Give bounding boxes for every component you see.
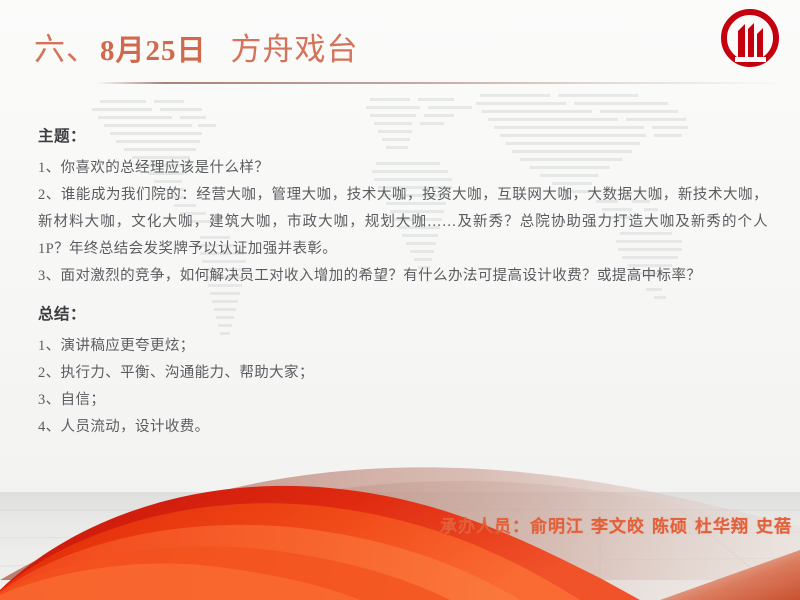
- topic-item-1: 1、你喜欢的总经理应该是什么样？: [38, 155, 768, 182]
- participant-name-2: 李文皎: [591, 517, 645, 536]
- title-date: 8月25日: [98, 35, 209, 67]
- presentation-slide: 六、8月25日方舟戏台 主题： 1、你喜欢的总经理应该是什么样？ 2、谁能成为我…: [0, 0, 800, 600]
- topic-item-2: 2、谁能成为我们院的：经营大咖，管理大咖，技术大咖，投资大咖，互联网大咖，大数据…: [38, 182, 768, 263]
- participant-name-1: 俞明江: [530, 517, 584, 536]
- title-index: 六、: [34, 32, 98, 67]
- page-title: 六、8月25日方舟戏台: [34, 24, 359, 69]
- slide-body: 主题： 1、你喜欢的总经理应该是什么样？ 2、谁能成为我们院的：经营大咖，管理大…: [38, 124, 768, 445]
- participant-name-4: 杜华翔: [695, 517, 749, 536]
- topic-heading: 主题：: [38, 124, 768, 146]
- summary-item-4: 4、人员流动，设计收费。: [38, 414, 768, 441]
- company-logo-icon: [714, 5, 786, 77]
- participants-line: 承办人员：俞明江李文皎陈硕杜华翔史蓓: [440, 512, 792, 537]
- summary-section: 总结： 1、演讲稿应更夸更炫； 2、执行力、平衡、沟通能力、帮助大家； 3、自信…: [38, 302, 768, 441]
- title-venue: 方舟戏台: [231, 32, 359, 67]
- participant-name-3: 陈硕: [652, 517, 688, 536]
- summary-item-2: 2、执行力、平衡、沟通能力、帮助大家；: [38, 360, 768, 387]
- summary-item-1: 1、演讲稿应更夸更炫；: [38, 333, 768, 360]
- participants-label: 承办人员：: [440, 517, 530, 536]
- topic-section: 主题： 1、你喜欢的总经理应该是什么样？ 2、谁能成为我们院的：经营大咖，管理大…: [38, 124, 768, 290]
- summary-heading: 总结：: [38, 302, 768, 324]
- title-underline-rule: [96, 82, 784, 84]
- summary-item-3: 3、自信；: [38, 387, 768, 414]
- topic-item-3: 3、面对激烈的竞争，如何解决员工对收入增加的希望？有什么办法可提高设计收费？或提…: [38, 263, 768, 290]
- participant-name-5: 史蓓: [756, 517, 792, 536]
